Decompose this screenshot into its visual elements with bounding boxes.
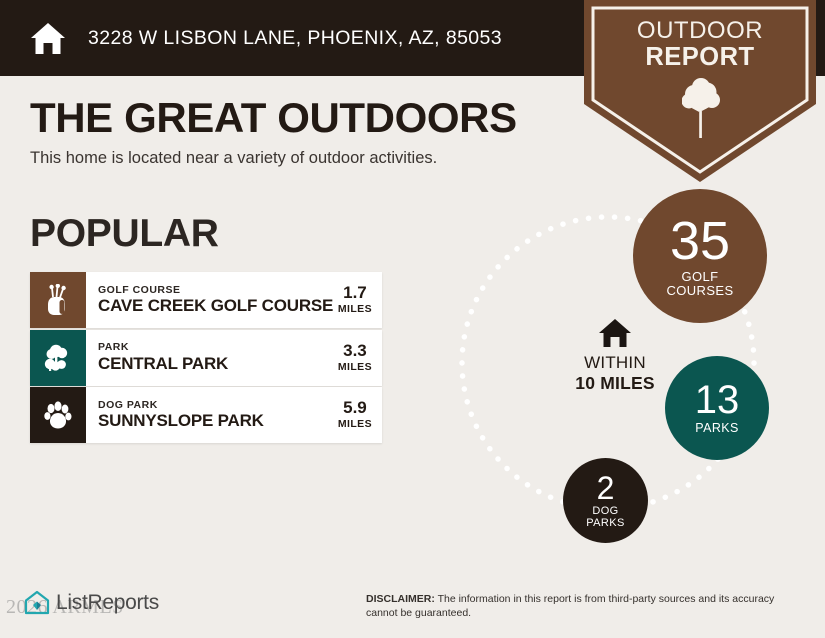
item-name: CAVE CREEK GOLF COURSE [98, 296, 332, 316]
distance-value: 3.3 [338, 342, 372, 361]
page-subtitle: This home is located near a variety of o… [30, 149, 570, 168]
golf-bag-icon [43, 284, 73, 316]
stat-bubble-dog-parks[interactable]: 2 DOG PARKS [563, 458, 648, 543]
item-body: DOG PARK SUNNYSLOPE PARK 5.9 MILES [86, 387, 382, 443]
distance-unit: MILES [338, 361, 372, 374]
diagram-center-label: WITHIN 10 MILES [528, 318, 702, 393]
item-text: GOLF COURSE CAVE CREEK GOLF COURSE [98, 284, 332, 317]
item-name: CENTRAL PARK [98, 354, 228, 374]
stat-label-line-2: PARKS [586, 517, 624, 529]
home-icon [28, 18, 68, 58]
outdoor-report-badge: OUTDOOR REPORT [584, 0, 816, 182]
item-category: PARK [98, 341, 228, 354]
item-body: GOLF COURSE CAVE CREEK GOLF COURSE 1.7 M… [86, 272, 382, 328]
item-icon-tile [30, 387, 86, 443]
item-name: SUNNYSLOPE PARK [98, 411, 264, 431]
stat-value: 35 [670, 214, 730, 268]
home-icon [528, 318, 702, 348]
amenities-circle-diagram: 35 GOLF COURSES 13 PARKS 2 DOG PARKS WIT… [420, 180, 820, 560]
distance-value: 1.7 [338, 284, 372, 303]
property-address: 3228 W LISBON LANE, PHOENIX, AZ, 85053 [88, 27, 502, 50]
item-category: DOG PARK [98, 399, 264, 412]
stat-label-line-1: DOG [592, 505, 618, 517]
item-text: DOG PARK SUNNYSLOPE PARK [98, 399, 264, 432]
house-outline-logo-icon [22, 588, 52, 618]
item-icon-tile [30, 330, 86, 386]
stat-value: 2 [597, 472, 615, 504]
distance-value: 5.9 [338, 399, 372, 418]
disclaimer-label: DISCLAIMER: [366, 593, 435, 605]
item-distance: 5.9 MILES [332, 399, 372, 430]
item-icon-tile [30, 272, 86, 328]
item-body: PARK CENTRAL PARK 3.3 MILES [86, 330, 382, 386]
item-category: GOLF COURSE [98, 284, 332, 297]
item-text: PARK CENTRAL PARK [98, 341, 228, 374]
popular-section-heading: POPULAR [30, 212, 219, 256]
list-item[interactable]: DOG PARK SUNNYSLOPE PARK 5.9 MILES [30, 387, 382, 443]
item-distance: 1.7 MILES [332, 284, 372, 315]
list-item[interactable]: PARK CENTRAL PARK 3.3 MILES [30, 330, 382, 386]
stat-label-line-1: GOLF [682, 270, 719, 284]
paw-print-icon [43, 400, 73, 430]
title-block: THE GREAT OUTDOORS This home is located … [30, 96, 570, 168]
listreports-logo[interactable]: ListReports [22, 588, 159, 618]
center-label-line-2: 10 MILES [528, 373, 702, 393]
popular-list: GOLF COURSE CAVE CREEK GOLF COURSE 1.7 M… [30, 272, 382, 445]
distance-unit: MILES [338, 418, 372, 431]
center-label-line-1: WITHIN [528, 353, 702, 373]
listreports-logo-text: ListReports [56, 591, 159, 615]
outdoor-report-infographic: 3228 W LISBON LANE, PHOENIX, AZ, 85053 [0, 0, 825, 638]
stat-bubble-golf-courses[interactable]: 35 GOLF COURSES [633, 189, 767, 323]
item-distance: 3.3 MILES [332, 342, 372, 373]
tree-icon [682, 78, 720, 140]
park-trees-icon [42, 343, 74, 373]
stat-label-line-2: COURSES [666, 284, 733, 298]
distance-unit: MILES [338, 303, 372, 316]
stat-label-line-1: PARKS [695, 422, 738, 436]
list-item[interactable]: GOLF COURSE CAVE CREEK GOLF COURSE 1.7 M… [30, 272, 382, 328]
page-title: THE GREAT OUTDOORS [30, 96, 570, 140]
disclaimer: DISCLAIMER: The information in this repo… [366, 592, 786, 620]
